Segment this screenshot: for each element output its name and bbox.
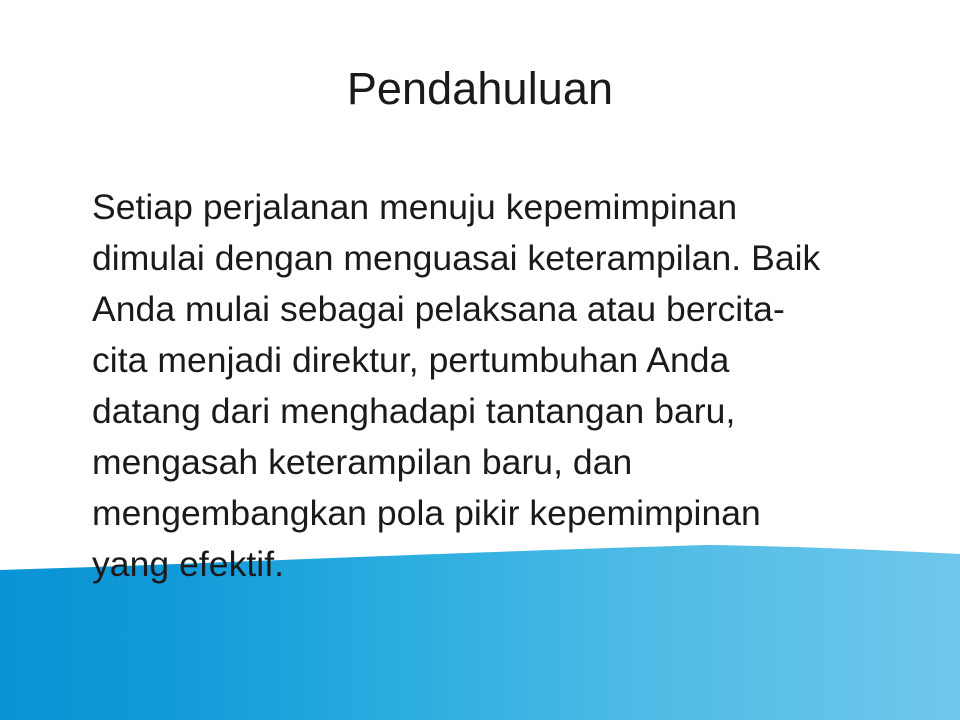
presentation-slide: Pendahuluan Setiap perjalanan menuju kep… bbox=[0, 0, 960, 720]
body-line: dimulai dengan menguasai keterampilan. B… bbox=[92, 233, 910, 284]
body-line: cita menjadi direktur, pertumbuhan Anda bbox=[92, 335, 910, 386]
page-title: Pendahuluan bbox=[0, 62, 960, 116]
body-line: Anda mulai sebagai pelaksana atau bercit… bbox=[92, 284, 910, 335]
slide-body-text: Setiap perjalanan menuju kepemimpinan di… bbox=[92, 182, 910, 590]
body-line: datang dari menghadapi tantangan baru, bbox=[92, 386, 910, 437]
body-line: Setiap perjalanan menuju kepemimpinan bbox=[92, 182, 910, 233]
body-line: yang efektif. bbox=[92, 539, 910, 590]
body-line: mengasah keterampilan baru, dan bbox=[92, 437, 910, 488]
body-line: mengembangkan pola pikir kepemimpinan bbox=[92, 488, 910, 539]
